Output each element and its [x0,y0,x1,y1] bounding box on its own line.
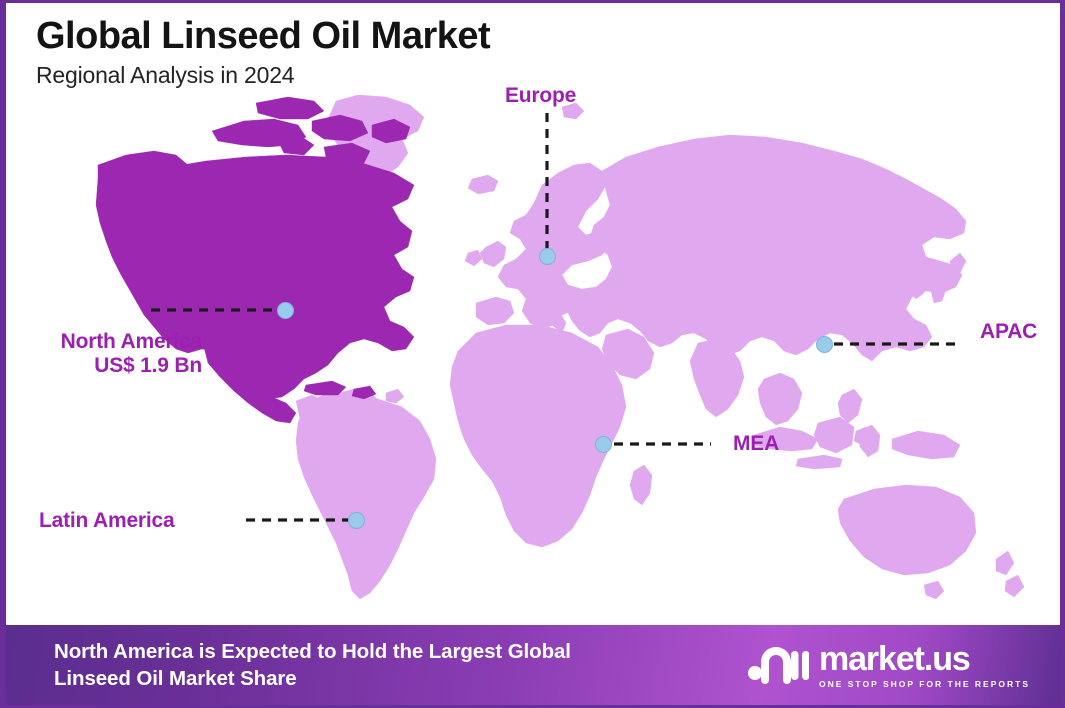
marker-apac[interactable] [816,336,833,353]
header-block: Global Linseed Oil Market Regional Analy… [36,15,490,89]
region-label-mea[interactable]: MEA [733,432,779,456]
region-label-latin-america[interactable]: Latin America [39,509,175,533]
region-name-mea: MEA [733,432,779,456]
infographic-canvas: Global Linseed Oil Market Regional Analy… [0,0,1065,708]
footer-headline-line1: North America is Expected to Hold the La… [54,638,571,665]
marker-europe[interactable] [539,248,556,265]
region-label-apac[interactable]: APAC [980,320,1037,344]
footer-headline: North America is Expected to Hold the La… [54,638,571,693]
footer-headline-line2: Linseed Oil Market Share [54,665,571,692]
page-subtitle: Regional Analysis in 2024 [36,62,490,89]
logo-tagline: ONE STOP SHOP FOR THE REPORTS [819,679,1030,689]
region-label-north-america[interactable]: North America US$ 1.9 Bn [14,330,202,379]
page-title: Global Linseed Oil Market [36,15,490,59]
market-us-logo[interactable]: market.us ONE STOP SHOP FOR THE REPORTS [747,642,1030,689]
market-us-logo-text: market.us ONE STOP SHOP FOR THE REPORTS [819,642,1030,689]
logo-wordmark: market.us [819,642,1030,676]
marker-mea[interactable] [595,436,612,453]
region-label-europe[interactable]: Europe [505,84,576,108]
marker-latin-america[interactable] [348,512,365,529]
marker-north-america[interactable] [277,302,294,319]
footer-bar: North America is Expected to Hold the La… [6,625,1060,705]
region-name-latin-america: Latin America [39,509,175,533]
region-value-north-america: US$ 1.9 Bn [14,354,202,378]
market-us-logo-mark [747,642,809,688]
region-name-north-america: North America [14,330,202,354]
region-name-europe: Europe [505,84,576,108]
region-name-apac: APAC [980,320,1037,344]
